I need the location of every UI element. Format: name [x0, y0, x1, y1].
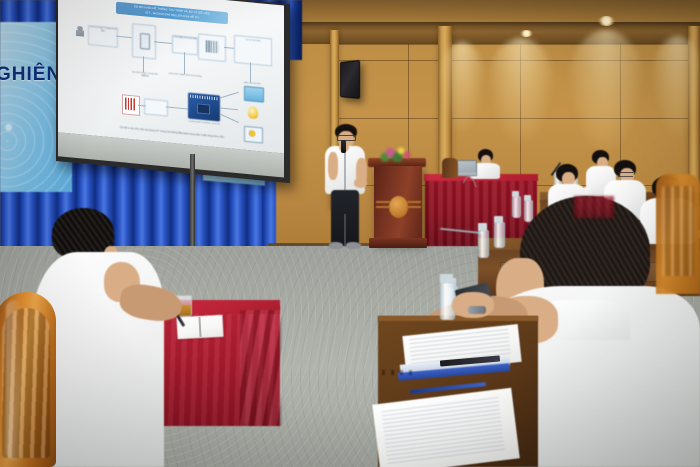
diagram-node: [132, 23, 156, 59]
diagram-node: Thu thập xử lý dữ liệu: [172, 35, 198, 55]
diagram-connector: [116, 36, 132, 38]
wooden-chair-right-slats: [662, 186, 694, 276]
slide-title: SƠ ĐỒ KHỐI HỆ THỐNG THU THẬP VÀ XỬ LÝ DỮ…: [116, 2, 228, 25]
person-icon: [76, 26, 84, 37]
diagram-connector: [220, 114, 239, 123]
downlight-icon: [598, 16, 615, 26]
qr-red-glyph: [125, 98, 135, 111]
microphone-icon: [341, 140, 346, 153]
water-bottle: [478, 230, 489, 258]
podium-stripe: [376, 206, 390, 208]
presenter-hand-right: [354, 178, 367, 188]
presenter-shoe: [346, 242, 361, 249]
diagram-node-label: Thiết bị nhập Thông tin dữ liệu: [89, 26, 117, 34]
diagram-node: Cơ sở dữ liệu: [234, 35, 272, 67]
presenter-shirt-placket: [344, 150, 346, 192]
bottle-cap: [440, 274, 453, 283]
diagram-connector: [220, 108, 238, 110]
podium-stripe: [376, 201, 390, 203]
bottle-cap: [524, 195, 531, 201]
conference-photo: TRƯỜNG GHIÊN SƠ ĐỒ KHỐI HỆ THỐNG THU THẬ…: [0, 0, 700, 467]
gauge-dial: [248, 129, 256, 138]
wall-light-glow: [438, 42, 486, 132]
side-table-skirt: [574, 196, 614, 218]
flower-vase: [380, 146, 414, 162]
lightbulb-icon: [248, 106, 258, 119]
foreground-desk-edge: [378, 316, 538, 321]
diagram-node-label: Cảm biến Giám sát môi trường: [168, 73, 202, 79]
bottle-cap: [512, 191, 519, 197]
diagram-connector: [154, 41, 172, 43]
bottle-cap: [478, 223, 487, 231]
wall-light-glow: [650, 36, 700, 136]
diagram-node-label: Cơ sở dữ liệu: [235, 38, 271, 44]
monitor-icon: [244, 86, 264, 103]
qr-code-icon: [206, 40, 218, 53]
diagram-connector: [250, 62, 251, 82]
diagram-node: [144, 98, 168, 116]
water-bottle: [494, 222, 505, 248]
wall-light-glow: [566, 30, 646, 150]
microcontroller-chip: [197, 103, 210, 114]
wooden-chair-left-highlight: [6, 300, 22, 460]
downlight-icon: [520, 30, 533, 37]
diagram-node-label: Thu thập xử lý dữ liệu: [173, 36, 197, 41]
water-bottle: [512, 196, 521, 218]
ceiling-speaker: [340, 60, 360, 99]
presenter-shoe: [329, 242, 343, 249]
diagram-connector: [166, 106, 188, 109]
projection-screen: SƠ ĐỒ KHỐI HỆ THỐNG THU THẬP VÀ XỬ LÝ DỮ…: [56, 0, 290, 183]
podium-stripe: [407, 206, 421, 208]
diagram-node: [198, 33, 226, 62]
glasses-icon: [337, 135, 356, 141]
diagram-connector: [220, 92, 239, 99]
hand-holding-phone: [452, 292, 494, 318]
banner-text-left: GHIÊN: [0, 64, 61, 86]
presenter-arm-left: [328, 152, 338, 180]
front-table-drape: [240, 310, 282, 426]
podium-medallion: [389, 196, 408, 218]
desk-holes: [382, 370, 416, 375]
diagram-connector: [184, 52, 185, 74]
diagram-node-label: Bộ điều khiển Trung tâm thiết bị: [130, 71, 160, 79]
projection-screen-surface: SƠ ĐỒ KHỐI HỆ THỐNG THU THẬP VÀ XỬ LÝ DỮ…: [58, 0, 284, 154]
presenter-trouser-gap: [344, 214, 346, 246]
diagram-node: Thiết bị nhập Thông tin dữ liệu: [88, 25, 118, 48]
bottle-cap: [494, 216, 503, 223]
glasses-icon: [618, 172, 633, 177]
head-table-chair: [442, 158, 458, 178]
podium-base: [369, 238, 427, 248]
diagram-connector: [143, 56, 144, 72]
wristwatch: [468, 306, 486, 314]
wall-light-glow: [486, 38, 556, 143]
smartphone-icon: [140, 33, 150, 50]
podium-stripe: [407, 201, 421, 203]
